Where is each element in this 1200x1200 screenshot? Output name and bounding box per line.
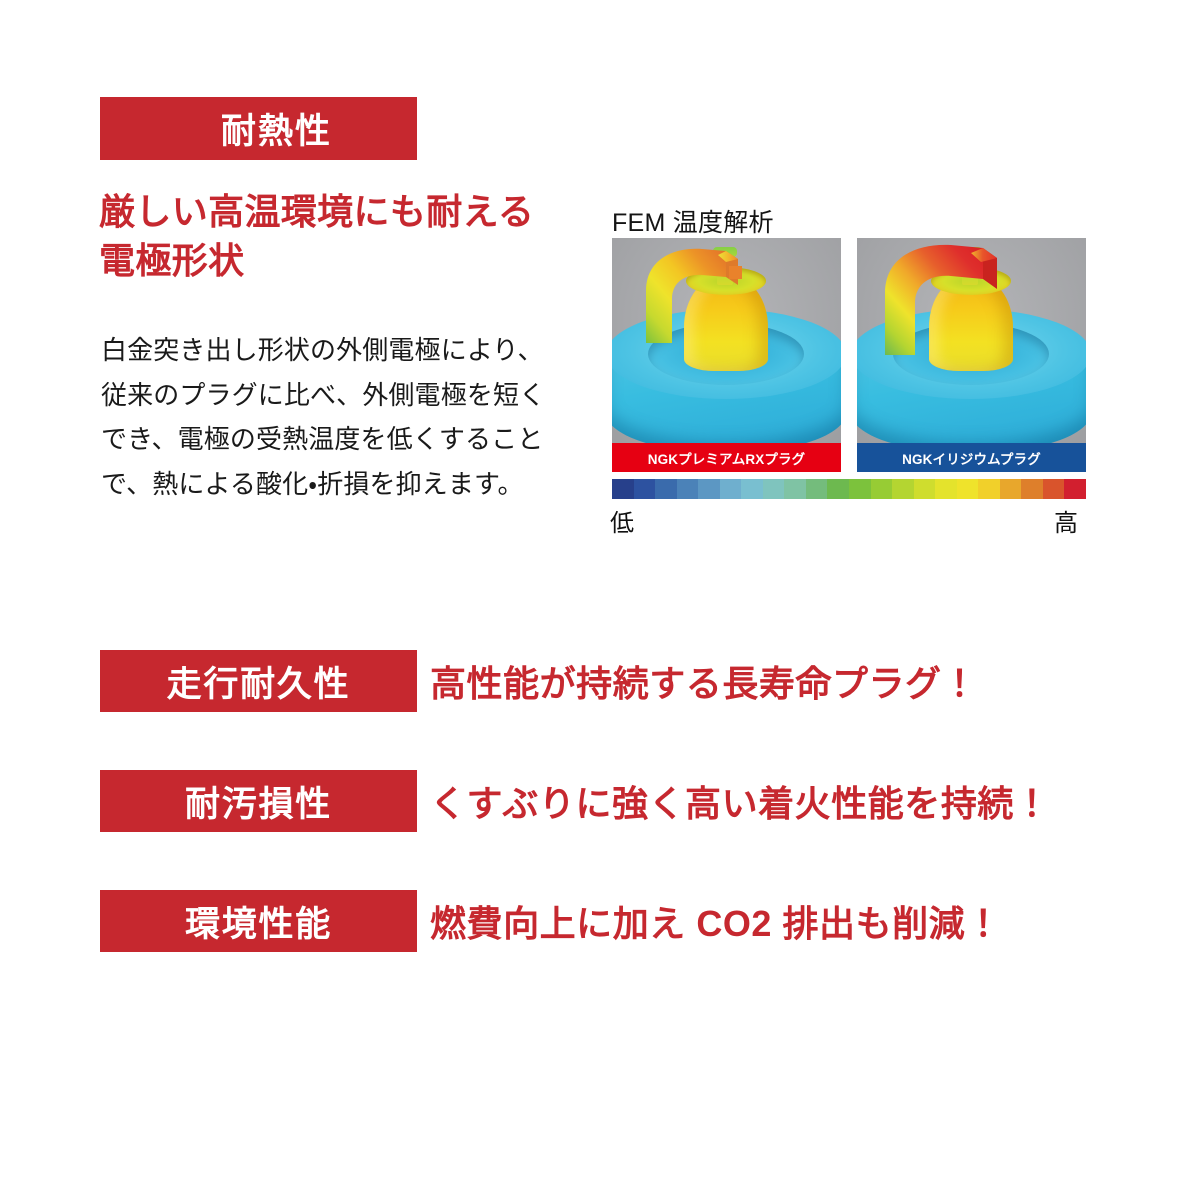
headline-line-1: 厳しい高温環境にも耐える: [99, 191, 534, 232]
feature-desc-durability: 高性能が持続する長寿命プラグ！: [430, 650, 978, 712]
body-copy: 白金突き出し形状の外側電極により、 従来のプラグに比べ、外側電極を短く でき、電…: [101, 328, 591, 507]
feature-tag-durability: 走行耐久性: [100, 650, 417, 712]
feature-tag-fouling-resistance: 耐汚損性: [100, 770, 417, 832]
scale-swatch-15: [935, 479, 957, 499]
body-copy-line-3: でき、電極の受熱温度を低くすること: [101, 417, 591, 462]
scale-swatch-7: [763, 479, 785, 499]
scale-swatch-12: [871, 479, 893, 499]
scale-swatch-14: [914, 479, 936, 499]
fem-render-premium-rx: [612, 238, 841, 443]
section-tag-heat-resistance-label: 耐熱性: [221, 103, 332, 154]
scale-swatch-9: [806, 479, 828, 499]
scale-swatch-20: [1043, 479, 1065, 499]
feature-row-fouling-resistance: 耐汚損性 くすぶりに強く高い着火性能を持続！: [100, 770, 1100, 832]
scale-swatch-2: [655, 479, 677, 499]
scale-swatch-11: [849, 479, 871, 499]
scale-swatch-16: [957, 479, 979, 499]
feature-desc-environmental: 燃費向上に加え CO2 排出も削減！: [430, 890, 1002, 952]
fem-panel-caption-iridium: NGKイリジウムプラグ: [857, 443, 1086, 472]
scale-label-low: 低: [610, 503, 634, 538]
scale-label-high: 高: [1054, 503, 1078, 538]
scale-swatch-13: [892, 479, 914, 499]
scale-swatch-21: [1064, 479, 1086, 499]
body-copy-line-2: 従来のプラグに比べ、外側電極を短く: [101, 373, 591, 418]
section-tag-heat-resistance: 耐熱性: [100, 97, 417, 160]
body-copy-line-1: 白金突き出し形状の外側電極により、: [101, 328, 591, 373]
scale-swatch-19: [1021, 479, 1043, 499]
fem-analysis-panels: NGKプレミアムRXプラグ: [612, 238, 1086, 472]
fem-panel-iridium: NGKイリジウムプラグ: [857, 238, 1086, 472]
scale-swatch-1: [634, 479, 656, 499]
scale-swatch-3: [677, 479, 699, 499]
scale-swatch-8: [784, 479, 806, 499]
feature-page: 耐熱性 厳しい高温環境にも耐える 電極形状 白金突き出し形状の外側電極により、 …: [0, 0, 1200, 1200]
fem-panel-premium-rx: NGKプレミアムRXプラグ: [612, 238, 841, 472]
feature-row-environmental: 環境性能 燃費向上に加え CO2 排出も削減！: [100, 890, 1100, 952]
feature-tag-environmental: 環境性能: [100, 890, 417, 952]
plug-ground-electrode-icon: [875, 239, 979, 335]
scale-swatch-10: [827, 479, 849, 499]
scale-swatch-5: [720, 479, 742, 499]
scale-swatch-6: [741, 479, 763, 499]
scale-swatch-17: [978, 479, 1000, 499]
scale-swatch-0: [612, 479, 634, 499]
page-headline: 厳しい高温環境にも耐える 電極形状: [99, 188, 619, 285]
scale-swatch-18: [1000, 479, 1022, 499]
body-copy-line-4: で、熱による酸化・折損を抑えます。: [101, 462, 591, 507]
temperature-color-scale: [612, 479, 1086, 499]
scale-swatch-4: [698, 479, 720, 499]
fem-panel-caption-premium-rx: NGKプレミアムRXプラグ: [612, 443, 841, 472]
fem-analysis-title: FEM 温度解析: [612, 203, 774, 239]
headline-line-2: 電極形状: [99, 237, 619, 286]
plug-ground-electrode-icon: [630, 239, 734, 335]
feature-row-durability: 走行耐久性 高性能が持続する長寿命プラグ！: [100, 650, 1100, 712]
fem-render-iridium: [857, 238, 1086, 443]
feature-desc-fouling-resistance: くすぶりに強く高い着火性能を持続！: [430, 770, 1050, 832]
